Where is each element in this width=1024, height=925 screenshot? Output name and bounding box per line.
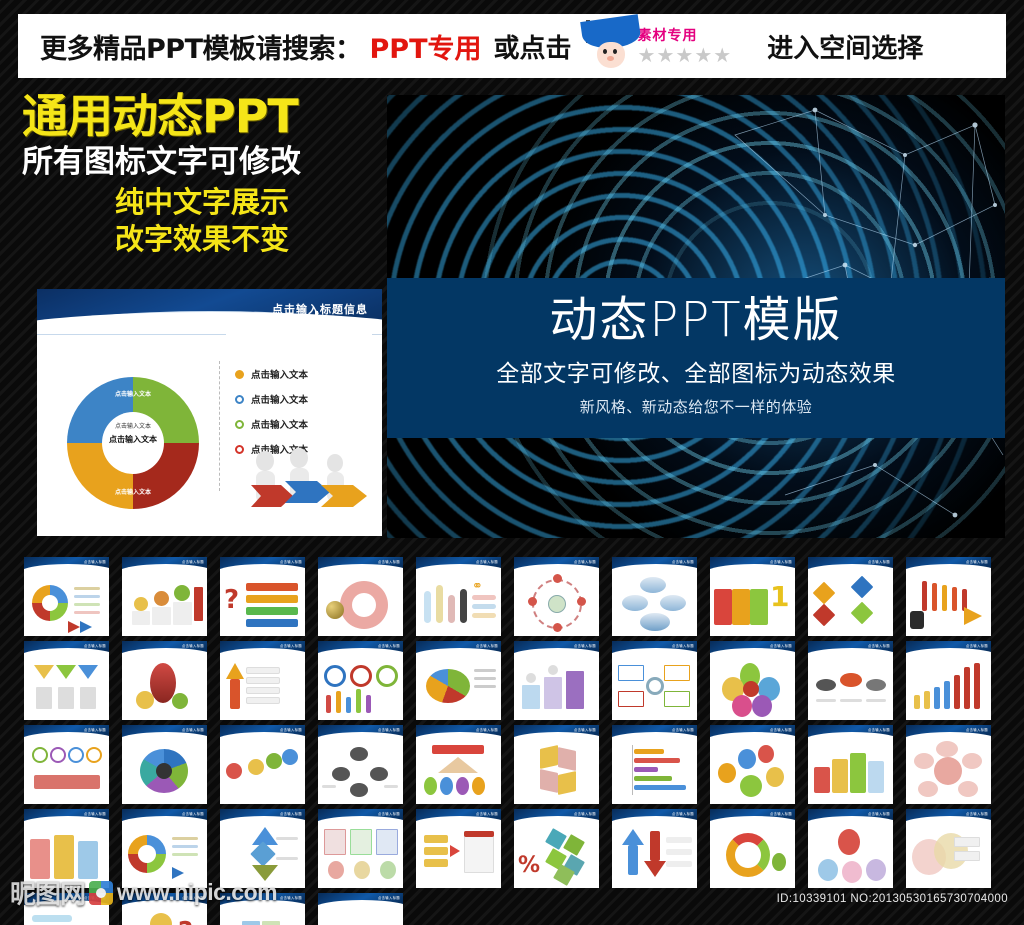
thumbnail-header-label: 点击输入标题: [280, 811, 302, 816]
thumbnail-slide[interactable]: 点击输入标题: [906, 809, 991, 888]
legend-label: 点击输入文本: [251, 367, 308, 381]
thumbnail-slide[interactable]: 点击输入标题: [514, 557, 599, 636]
donut-center-big: 点击输入文本: [109, 435, 157, 444]
thumbnail-slide[interactable]: 点击输入标题: [612, 809, 697, 888]
banner-keyword: PPT专用: [370, 27, 482, 66]
avatar-rating-block: 素材专用 ★ ★ ★ ★ ★: [638, 21, 732, 71]
thumbnail-slide[interactable]: 点击输入标题: [514, 725, 599, 804]
thumbnail-header-label: 点击输入标题: [574, 811, 596, 816]
star-icon: ★: [675, 46, 693, 64]
thumbnail-slide[interactable]: 点击输入标题: [808, 809, 893, 888]
thumbnail-header-label: 点击输入标题: [770, 559, 792, 564]
thumbnail-row: 点击输入标题 点击输入标题 点击输入标题 点击输入标题: [24, 641, 1004, 720]
thumbnail-slide[interactable]: 点击输入标题: [514, 641, 599, 720]
thumbnail-header-label: 点击输入标题: [868, 559, 890, 564]
headline-line-3: 纯中文字展示: [22, 184, 382, 220]
thumbnail-slide[interactable]: 点击输入标题: [318, 557, 403, 636]
slide-divider: [219, 361, 220, 491]
thumbnail-slide[interactable]: 点击输入标题: [24, 641, 109, 720]
thumbnail-row: 点击输入标题 点击输入标题 点击输入标题 ? 点击输入标题: [24, 557, 1004, 636]
thumbnail-slide[interactable]: 点击输入标题: [808, 641, 893, 720]
thumbnail-slide[interactable]: 点击输入标题: [416, 641, 501, 720]
thumbnail-header-label: 点击输入标题: [770, 727, 792, 732]
thumbnail-grid: 点击输入标题 点击输入标题 点击输入标题 ? 点击输入标题: [24, 557, 1004, 925]
legend-item: 点击输入文本: [235, 417, 308, 431]
thumbnail-slide[interactable]: 点击输入标题: [318, 809, 403, 888]
thumbnail-header-label: 点击输入标题: [378, 811, 400, 816]
thumbnail-slide[interactable]: 点击输入标题: [808, 557, 893, 636]
thumbnail-header-label: 点击输入标题: [868, 727, 890, 732]
thumbnail-slide[interactable]: 点击输入标题: [612, 641, 697, 720]
headline-line-1: 通用动态PPT: [22, 92, 382, 140]
thumbnail-slide[interactable]: 点击输入标题: [710, 809, 795, 888]
legend-label: 点击输入文本: [251, 417, 308, 431]
promo-banner: 更多精品PPT模板请搜索： PPT专用 或点击 素材专用 ★ ★ ★ ★ ★ 进…: [18, 14, 1006, 78]
thumbnail-header-label: 点击输入标题: [378, 895, 400, 900]
star-icon: ★: [713, 46, 731, 64]
thumbnail-slide[interactable]: 点击输入标题: [416, 725, 501, 804]
thumbnail-slide[interactable]: 点击输入标题: [24, 557, 109, 636]
legend-dot-icon: [235, 420, 244, 429]
watermark-url: www.nipic.com: [117, 879, 277, 906]
thumbnail-slide[interactable]: 点击输入标题: [122, 641, 207, 720]
thumbnail-header-label: 点击输入标题: [770, 643, 792, 648]
thumbnail-header-label: 点击输入标题: [182, 559, 204, 564]
donut-segment-label: 点击输入文本: [67, 389, 199, 398]
thumbnail-header-label: 点击输入标题: [84, 811, 106, 816]
thumbnail-header-label: 点击输入标题: [574, 643, 596, 648]
thumbnail-header-label: 点击输入标题: [378, 727, 400, 732]
thumbnail-slide[interactable]: 点击输入标题: [710, 725, 795, 804]
thumbnail-header-label: 点击输入标题: [378, 559, 400, 564]
people-arrows-illustration: [243, 441, 373, 521]
legend-dot-icon: [235, 370, 244, 379]
thumbnail-header-label: 点击输入标题: [182, 811, 204, 816]
donut-segment-label: 点击输入文本: [67, 487, 199, 496]
star-icon: ★: [638, 46, 656, 64]
thumbnail-header-label: 点击输入标题: [280, 643, 302, 648]
thumbnail-header-label: 点击输入标题: [378, 643, 400, 648]
thumbnail-slide[interactable]: 点击输入标题: [612, 725, 697, 804]
thumbnail-slide[interactable]: 点击输入标题 ⚭: [416, 557, 501, 636]
thumbnail-header-label: 点击输入标题: [966, 643, 988, 648]
thumbnail-slide[interactable]: 点击输入标题 %: [514, 809, 599, 888]
thumbnail-header-label: 点击输入标题: [476, 559, 498, 564]
thumbnail-header-label: 点击输入标题: [280, 895, 302, 900]
hero-title-band: 动态PPT模版 全部文字可修改、全部图标为动态效果 新风格、新动态给您不一样的体…: [387, 278, 1005, 438]
thumbnail-slide[interactable]: 点击输入标题: [122, 725, 207, 804]
thumbnail-slide[interactable]: 点击输入标题: [24, 725, 109, 804]
thumbnail-slide[interactable]: 点击输入标题: [906, 641, 991, 720]
thumbnail-header-label: 点击输入标题: [672, 643, 694, 648]
asset-id-text: ID:10339101 NO:20130530165730704000: [777, 893, 1008, 905]
avatar-hair-icon: [586, 20, 590, 43]
thumbnail-slide[interactable]: 点击输入标题: [318, 641, 403, 720]
hero-title: 动态PPT模版: [549, 295, 842, 345]
thumbnail-header-label: 点击输入标题: [280, 727, 302, 732]
legend-label: 点击输入文本: [251, 392, 308, 406]
thumbnail-header-label: 点击输入标题: [280, 559, 302, 564]
legend-item: 点击输入文本: [235, 367, 308, 381]
avatar[interactable]: [586, 22, 632, 70]
star-rating: ★ ★ ★ ★ ★: [638, 46, 732, 64]
thumbnail-header-label: 点击输入标题: [574, 727, 596, 732]
thumbnail-slide[interactable]: 点击输入标题: [906, 725, 991, 804]
slide-header-title: 点击输入标题信息: [272, 301, 368, 317]
headline-line-4: 改字效果不变: [22, 221, 382, 257]
thumbnail-header-label: 点击输入标题: [966, 727, 988, 732]
star-icon: ★: [694, 46, 712, 64]
banner-main-text: 更多精品PPT模板请搜索：: [40, 27, 362, 66]
thumbnail-slide[interactable]: 点击输入标题: [906, 557, 991, 636]
avatar-image: [586, 20, 590, 43]
thumbnail-header-label: 点击输入标题: [672, 811, 694, 816]
thumbnail-slide[interactable]: 点击输入标题: [612, 557, 697, 636]
headline-line-2: 所有图标文字可修改: [22, 143, 382, 182]
thumbnail-slide[interactable]: 点击输入标题: [122, 557, 207, 636]
sample-slide-preview[interactable]: 点击输入标题信息 点击输入文本 点击输入文本 点击输入文本 点击输入文本 点击输…: [37, 289, 382, 536]
thumbnail-row: 点击输入标题 点击输入标题 点击输入标题 点击输入标题 点击输入标题: [24, 725, 1004, 804]
thumbnail-header-label: 点击输入标题: [476, 811, 498, 816]
thumbnail-header-label: 点击输入标题: [476, 727, 498, 732]
thumbnail-slide[interactable]: 点击输入标题 谢谢观赏 Thank You: [318, 893, 403, 925]
thumbnail-header-label: 点击输入标题: [182, 643, 204, 648]
legend-dot-icon: [235, 395, 244, 404]
slide-header: 点击输入标题信息: [37, 289, 382, 335]
watermark-logo-icon: [89, 881, 113, 905]
thumbnail-header-label: 点击输入标题: [770, 811, 792, 816]
thumbnail-header-label: 点击输入标题: [574, 559, 596, 564]
thumbnail-header-label: 点击输入标题: [966, 559, 988, 564]
hero-subtitle-secondary: 新风格、新动态给您不一样的体验: [580, 396, 813, 417]
thumbnail-header-label: 点击输入标题: [672, 727, 694, 732]
thumbnail-header-label: 点击输入标题: [868, 811, 890, 816]
thumbnail-slide[interactable]: 点击输入标题: [318, 725, 403, 804]
thumbnail-slide[interactable]: 点击输入标题: [220, 725, 305, 804]
site-watermark: 昵图网 www.nipic.com: [10, 874, 277, 911]
legend-item: 点击输入文本: [235, 392, 308, 406]
banner-mid-text: 或点击: [494, 28, 572, 65]
thumbnail-slide[interactable]: 点击输入标题: [710, 641, 795, 720]
thumbnail-slide[interactable]: 点击输入标题 ?: [220, 557, 305, 636]
thumbnail-header-label: 点击输入标题: [84, 727, 106, 732]
thumbnail-header-label: 点击输入标题: [672, 559, 694, 564]
banner-cta-text[interactable]: 进入空间选择: [767, 28, 923, 65]
hero-subtitle: 全部文字可修改、全部图标为动态效果: [496, 354, 896, 388]
hero-slide-preview[interactable]: 动态PPT模版 全部文字可修改、全部图标为动态效果 新风格、新动态给您不一样的体…: [387, 95, 1005, 538]
donut-center-small: 点击输入文本: [115, 423, 151, 430]
star-icon: ★: [656, 46, 674, 64]
thumbnail-header-label: 点击输入标题: [476, 643, 498, 648]
thumbnail-slide[interactable]: 点击输入标题: [416, 809, 501, 888]
thumbnail-slide[interactable]: 点击输入标题: [220, 641, 305, 720]
thumbnail-header-label: 点击输入标题: [84, 643, 106, 648]
thumbnail-header-label: 点击输入标题: [868, 643, 890, 648]
thumbnail-slide[interactable]: 点击输入标题: [808, 725, 893, 804]
avatar-badge-label: 素材专用: [638, 29, 732, 43]
thumbnail-header-label: 点击输入标题: [966, 811, 988, 816]
watermark-site-name: 昵图网: [10, 874, 85, 911]
thumbnail-header-label: 点击输入标题: [182, 727, 204, 732]
thumbnail-header-label: 点击输入标题: [84, 559, 106, 564]
thumbnail-slide[interactable]: 点击输入标题 1: [710, 557, 795, 636]
headline-block: 通用动态PPT 所有图标文字可修改 纯中文字展示 改字效果不变: [22, 92, 382, 258]
donut-center-label: 点击输入文本 点击输入文本: [67, 421, 199, 448]
